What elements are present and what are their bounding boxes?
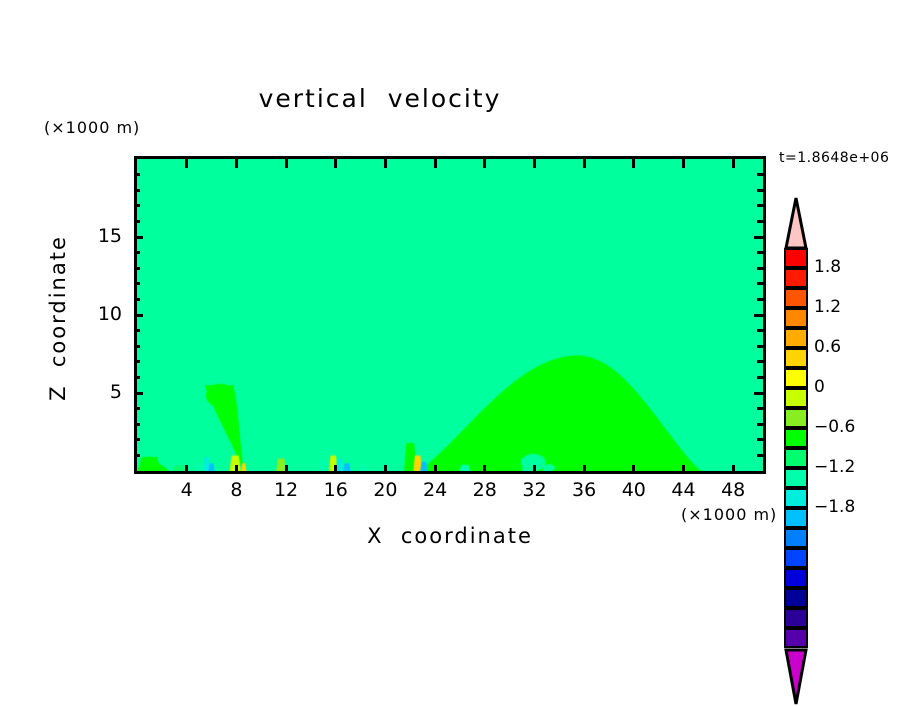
y-axis-minor-tick	[134, 438, 140, 441]
x-axis-top-tick	[583, 159, 586, 168]
x-axis-top-tick	[533, 159, 536, 168]
x-axis-tick-label: 48	[703, 479, 763, 501]
y-axis-right-tick	[757, 204, 763, 207]
x-axis-tick	[583, 465, 586, 474]
x-axis-top-tick	[682, 159, 685, 168]
y-axis-right-tick	[757, 329, 763, 332]
colorbar-band	[784, 448, 808, 468]
colorbar-tick-label: −1.8	[814, 497, 855, 517]
y-axis-right-tick	[757, 438, 763, 441]
x-axis-top-tick	[632, 159, 635, 168]
x-axis-top-tick	[235, 159, 238, 168]
y-axis-right-tick	[757, 251, 763, 254]
y-axis-minor-tick	[134, 423, 140, 426]
y-axis-tick	[134, 314, 143, 317]
y-axis-title: Z coordinate	[46, 208, 70, 428]
y-axis-tick	[134, 236, 143, 239]
colorbar	[784, 196, 808, 516]
colorbar-under-cap	[784, 648, 808, 706]
colorbar-band	[784, 288, 808, 308]
y-axis-right-tick	[757, 360, 763, 363]
colorbar-band	[784, 248, 808, 268]
y-axis-unit-label: (×1000 m)	[44, 118, 140, 137]
x-axis-tick	[235, 465, 238, 474]
y-axis-right-tick	[757, 267, 763, 270]
y-axis-right-tick	[757, 345, 763, 348]
x-axis-top-tick	[384, 159, 387, 168]
y-axis-minor-tick	[134, 173, 140, 176]
y-axis-tick-label: 10	[74, 303, 122, 325]
y-axis-right-tick	[754, 392, 763, 395]
x-axis-top-tick	[434, 159, 437, 168]
y-axis-minor-tick	[134, 376, 140, 379]
x-axis-tick	[632, 465, 635, 474]
colorbar-band	[784, 528, 808, 548]
y-axis-minor-tick	[134, 220, 140, 223]
x-axis-top-tick	[285, 159, 288, 168]
y-axis-right-tick	[757, 220, 763, 223]
y-axis-minor-tick	[134, 360, 140, 363]
colorbar-band	[784, 308, 808, 328]
x-axis-top-tick	[732, 159, 735, 168]
y-axis-tick-label: 5	[74, 381, 122, 403]
colorbar-tick-label: −1.2	[814, 457, 855, 477]
y-axis-minor-tick	[134, 204, 140, 207]
colorbar-band	[784, 428, 808, 448]
x-axis-tick	[384, 465, 387, 474]
x-axis-tick	[732, 465, 735, 474]
x-axis-tick	[434, 465, 437, 474]
y-axis-right-tick	[757, 189, 763, 192]
x-axis-tick	[483, 465, 486, 474]
colorbar-tick-label: −0.6	[814, 417, 855, 437]
x-axis-tick	[185, 465, 188, 474]
colorbar-tick-label: 0.6	[814, 337, 841, 357]
x-axis-top-tick	[185, 159, 188, 168]
y-axis-minor-tick	[134, 407, 140, 410]
y-axis-minor-tick	[134, 189, 140, 192]
x-axis-top-tick	[483, 159, 486, 168]
x-axis-title: X coordinate	[134, 524, 766, 548]
y-axis-tick	[134, 392, 143, 395]
colorbar-band	[784, 568, 808, 588]
y-axis-tick-label: 15	[74, 225, 122, 247]
y-axis-minor-tick	[134, 454, 140, 457]
x-axis-tick	[682, 465, 685, 474]
colorbar-band	[784, 368, 808, 388]
y-axis-minor-tick	[134, 345, 140, 348]
y-axis-right-tick	[757, 282, 763, 285]
contour-field-canvas	[137, 159, 763, 471]
x-axis-top-tick	[334, 159, 337, 168]
y-axis-right-tick	[757, 376, 763, 379]
y-axis-minor-tick	[134, 298, 140, 301]
colorbar-band	[784, 408, 808, 428]
colorbar-band	[784, 268, 808, 288]
colorbar-band	[784, 628, 808, 648]
y-axis-minor-tick	[134, 329, 140, 332]
y-axis-right-tick	[757, 173, 763, 176]
colorbar-band	[784, 608, 808, 628]
colorbar-band	[784, 328, 808, 348]
y-axis-right-tick	[757, 298, 763, 301]
x-axis-tick	[334, 465, 337, 474]
figure-container: vertical velocity (×1000 m) (×1000 m) t=…	[0, 0, 904, 654]
colorbar-over-cap	[784, 196, 808, 250]
x-axis-unit-label: (×1000 m)	[681, 505, 777, 524]
y-axis-right-tick	[757, 423, 763, 426]
plot-area	[134, 156, 766, 474]
y-axis-right-tick	[757, 407, 763, 410]
colorbar-band	[784, 348, 808, 368]
y-axis-right-tick	[757, 454, 763, 457]
timestamp-annotation: t=1.8648e+06	[779, 150, 889, 166]
y-axis-minor-tick	[134, 267, 140, 270]
colorbar-tick-label: 1.8	[814, 257, 841, 277]
colorbar-band	[784, 388, 808, 408]
colorbar-tick-label: 0	[814, 377, 825, 397]
colorbar-band	[784, 488, 808, 508]
colorbar-band	[784, 508, 808, 528]
x-axis-tick	[285, 465, 288, 474]
colorbar-band	[784, 468, 808, 488]
page-title: vertical velocity	[0, 84, 760, 113]
y-axis-right-tick	[754, 236, 763, 239]
colorbar-tick-label: 1.2	[814, 297, 841, 317]
y-axis-minor-tick	[134, 251, 140, 254]
colorbar-band	[784, 588, 808, 608]
x-axis-tick	[533, 465, 536, 474]
y-axis-minor-tick	[134, 282, 140, 285]
colorbar-band	[784, 548, 808, 568]
y-axis-right-tick	[754, 314, 763, 317]
